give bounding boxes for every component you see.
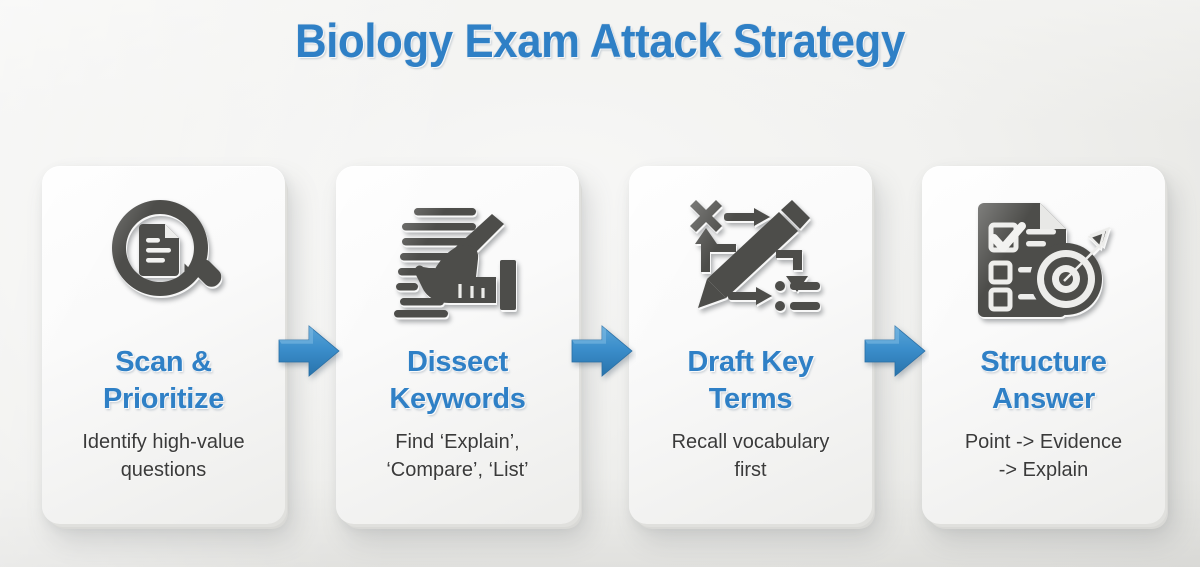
- hand-highlighting-text-icon: [336, 190, 579, 325]
- step-subtitle: Point -> Evidence -> Explain: [930, 428, 1157, 484]
- step-heading-line-1: Scan &: [115, 346, 212, 378]
- step-heading-line-1: Dissect: [407, 346, 508, 378]
- step-heading: Scan & Prioritize: [52, 344, 275, 418]
- arrow-right-icon: [861, 316, 929, 386]
- step-heading: Structure Answer: [932, 344, 1155, 418]
- step-heading-line-2: Prioritize: [103, 383, 224, 415]
- step-subtitle-line-2: -> Explain: [999, 459, 1089, 481]
- step-heading-line-2: Terms: [709, 383, 792, 415]
- step-card-draft-key-terms[interactable]: Draft Key Terms Recall vocabulary first: [629, 166, 872, 524]
- step-card-dissect-keywords[interactable]: Dissect Keywords Find ‘Explain’, ‘Compar…: [336, 166, 579, 524]
- arrow-right-icon: [275, 316, 343, 386]
- checklist-target-icon: [922, 190, 1165, 325]
- magnifier-document-icon: [42, 190, 285, 325]
- step-subtitle-line-2: first: [734, 459, 766, 481]
- step-subtitle: Recall vocabulary first: [637, 428, 864, 484]
- step-subtitle-line-1: Recall vocabulary: [672, 431, 830, 453]
- step-card-structure-answer[interactable]: Structure Answer Point -> Evidence -> Ex…: [922, 166, 1165, 524]
- step-heading-line-1: Structure: [980, 346, 1106, 378]
- pencil-arrows-list-icon: [629, 190, 872, 325]
- step-subtitle-line-1: Identify high-value: [82, 431, 244, 453]
- step-subtitle-line-2: ‘Compare’, ‘List’: [386, 459, 528, 481]
- step-heading: Dissect Keywords: [346, 344, 569, 418]
- step-subtitle: Identify high-value questions: [50, 428, 277, 484]
- step-card-scan-prioritize[interactable]: Scan & Prioritize Identify high-value qu…: [42, 166, 285, 524]
- step-subtitle-line-1: Point -> Evidence: [965, 431, 1122, 453]
- step-subtitle-line-2: questions: [121, 459, 207, 481]
- step-heading: Draft Key Terms: [639, 344, 862, 418]
- step-heading-line-2: Answer: [992, 383, 1095, 415]
- step-subtitle-line-1: Find ‘Explain’,: [395, 431, 520, 453]
- steps-row: Scan & Prioritize Identify high-value qu…: [0, 0, 1200, 567]
- arrow-right-icon: [568, 316, 636, 386]
- step-subtitle: Find ‘Explain’, ‘Compare’, ‘List’: [344, 428, 571, 484]
- step-heading-line-1: Draft Key: [687, 346, 813, 378]
- step-heading-line-2: Keywords: [389, 383, 525, 415]
